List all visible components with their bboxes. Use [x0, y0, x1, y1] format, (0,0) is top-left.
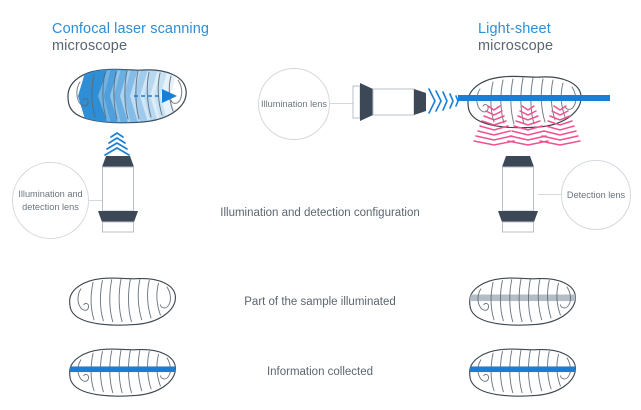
title-lightsheet-line1: Light-sheet — [478, 21, 553, 38]
fluorescence-emission-waves-icon — [470, 102, 586, 148]
title-lightsheet-line2: microscope — [478, 38, 553, 55]
callout-detection-lens-label: Detection lens — [567, 189, 625, 201]
illuminated-plane-band — [462, 295, 584, 302]
title-confocal: Confocal laser scanning microscope — [52, 21, 209, 55]
title-confocal-line2: microscope — [52, 38, 209, 55]
row-label-configuration: Illumination and detection configuration — [190, 205, 450, 222]
callout-illumination-lens-label: Illumination lens — [261, 98, 327, 110]
sample-left-illuminated — [62, 273, 184, 331]
sample-right-illuminated — [462, 273, 584, 331]
title-lightsheet: Light-sheet microscope — [478, 21, 553, 55]
microscope-objective-icon — [492, 156, 544, 234]
microscope-objective-icon — [92, 156, 144, 234]
callout-leader-line-illumination — [329, 103, 354, 104]
light-sheet-plane-icon — [458, 95, 610, 101]
collected-plane-band — [462, 366, 584, 372]
collected-plane-band — [62, 366, 184, 372]
sample-right-collected — [462, 344, 584, 402]
row-label-illuminated: Part of the sample illuminated — [190, 294, 450, 311]
callout-illumination-and-detection-lens-label: Illumination and detection lens — [13, 188, 88, 213]
confocal-sample-illustration — [58, 62, 198, 132]
title-confocal-line1: Confocal laser scanning — [52, 21, 209, 38]
row-label-collected: Information collected — [190, 364, 450, 381]
illumination-waves-icon — [426, 84, 462, 118]
callout-illumination-lens: Illumination lens — [258, 68, 330, 140]
callout-detection-lens: Detection lens — [561, 160, 631, 230]
diagram-canvas: Confocal laser scanning microscope Light… — [0, 0, 641, 410]
sample-left-collected — [62, 344, 184, 402]
callout-illumination-and-detection-lens: Illumination and detection lens — [12, 162, 89, 239]
